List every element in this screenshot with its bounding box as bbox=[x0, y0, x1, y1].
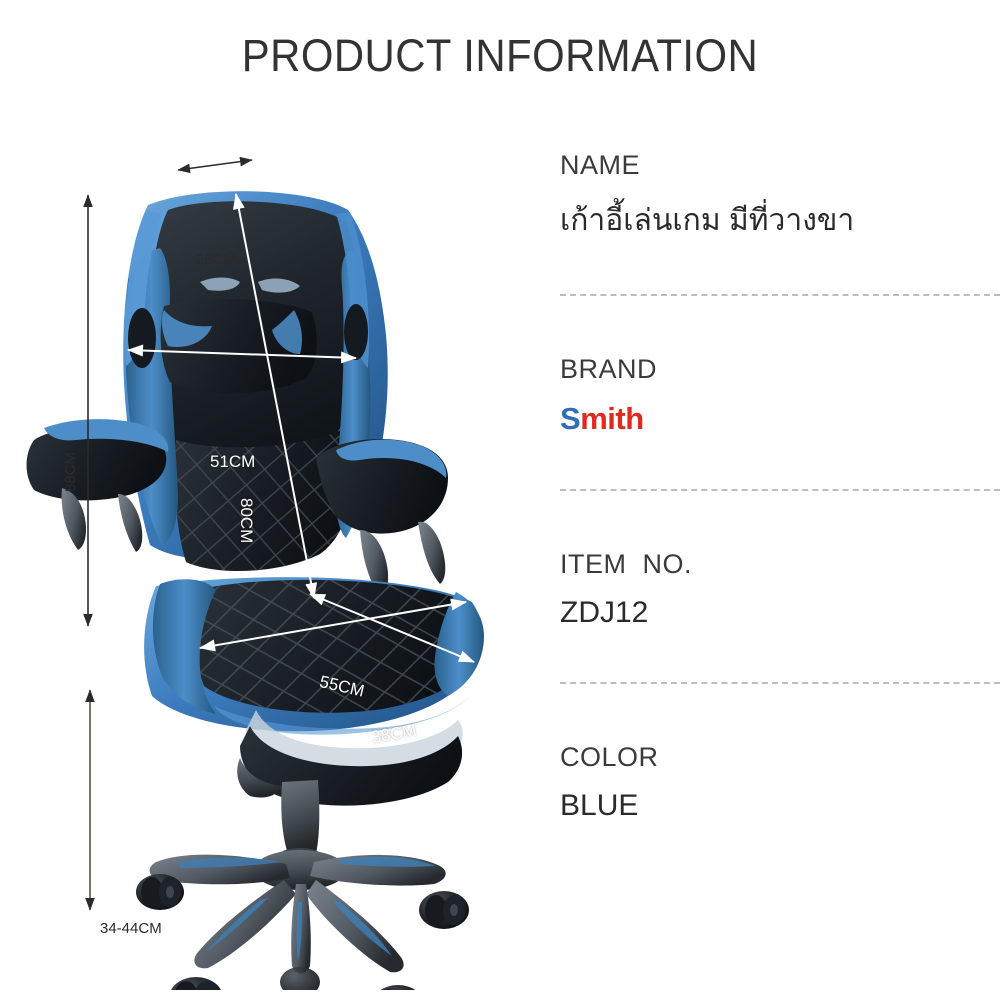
spec-label-brand: BRAND bbox=[560, 354, 1000, 385]
spec-divider-1 bbox=[560, 294, 1000, 296]
gas-cylinder bbox=[281, 780, 319, 854]
wing-cutout-right bbox=[344, 304, 368, 360]
caster-back-left bbox=[136, 874, 184, 910]
spec-row-item-no: ITEM NO. ZDJ12 bbox=[560, 549, 1000, 630]
backrest-quilt-pattern bbox=[174, 428, 352, 571]
dimension-label-backrest-width: 51CM bbox=[210, 452, 255, 472]
spec-divider-2 bbox=[560, 489, 1000, 491]
brand-logo-initial: S bbox=[560, 401, 580, 436]
base-arm-front-left bbox=[194, 880, 296, 968]
armrest-support-left-2 bbox=[118, 494, 142, 552]
product-spec-panel: NAME เก้าอี้เล่นเกม มีที่วางขา BRAND Smi… bbox=[560, 150, 1000, 823]
product-information-page: PRODUCT INFORMATION bbox=[0, 0, 1000, 1000]
page-title: PRODUCT INFORMATION bbox=[35, 30, 965, 82]
spec-row-name: NAME เก้าอี้เล่นเกม มีที่วางขา bbox=[560, 150, 1000, 244]
product-diagram: 28CM 88CM 34-44CM 51CM 80CM 55CM 38CM bbox=[0, 110, 560, 990]
spec-value-name: เก้าอี้เล่นเกม มีที่วางขา bbox=[560, 197, 1000, 244]
dimension-label-backrest-height: 80CM bbox=[236, 498, 256, 543]
spec-row-color: COLOR BLUE bbox=[560, 742, 1000, 823]
dimension-label-total-height: 88CM bbox=[62, 452, 79, 492]
spec-value-color: BLUE bbox=[560, 789, 1000, 823]
spec-value-item-no: ZDJ12 bbox=[560, 596, 1000, 630]
gaming-chair-illustration bbox=[0, 110, 560, 990]
spec-label-color: COLOR bbox=[560, 742, 1000, 773]
wing-cutout-left bbox=[128, 308, 156, 368]
armrest-support-right-2 bbox=[418, 522, 445, 584]
dimension-label-seat-height: 34-44CM bbox=[100, 920, 162, 937]
brand-logo: Smith bbox=[560, 401, 1000, 437]
brand-logo-text: mith bbox=[580, 401, 643, 436]
caster-back-right bbox=[419, 891, 469, 929]
spec-label-item-no: ITEM NO. bbox=[560, 549, 1000, 580]
spec-row-brand: BRAND Smith bbox=[560, 354, 1000, 437]
caster-front-right bbox=[371, 985, 425, 990]
caster-front-left bbox=[169, 977, 223, 990]
caster-front-center bbox=[280, 967, 320, 990]
dimension-label-width-top: 28CM bbox=[196, 251, 236, 268]
spec-divider-3 bbox=[560, 682, 1000, 684]
base-arm-front-right bbox=[306, 880, 404, 972]
arrow-width-top bbox=[178, 160, 252, 170]
spec-label-name: NAME bbox=[560, 150, 1000, 181]
